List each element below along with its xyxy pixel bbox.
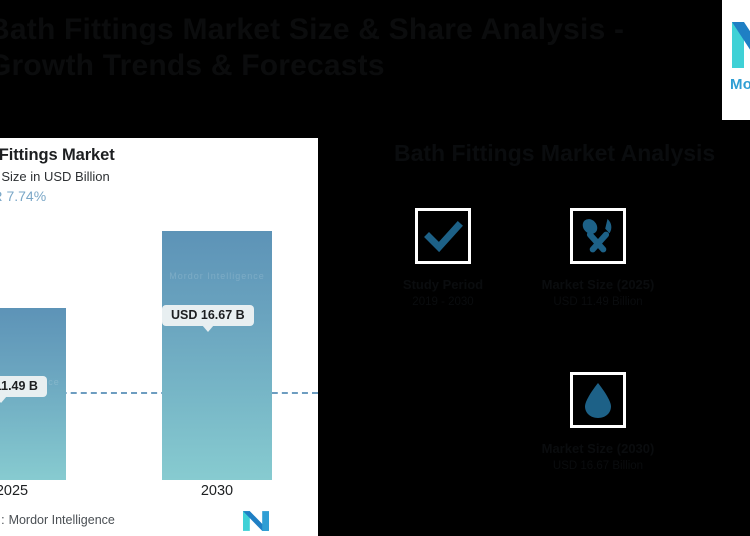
mordor-m-logomark-icon xyxy=(243,511,269,531)
feature-caption: Market Size (2030) xyxy=(513,440,683,457)
cagr-label: CAGR xyxy=(0,188,2,204)
chart-source: Source :Mordor Intelligence xyxy=(0,513,115,527)
feature-icon-frame xyxy=(415,208,471,264)
x-axis-label-2025: 2025 xyxy=(0,483,66,499)
feature-icon-frame xyxy=(570,372,626,428)
analysis-panel: Bath Fittings Market Analysis Study Peri… xyxy=(318,122,750,536)
page-title: Bath Fittings Market Size & Share Analys… xyxy=(0,12,688,84)
feature-study-period: Study Period 2019 - 2030 xyxy=(358,208,528,310)
cagr-value: 7.74% xyxy=(6,188,46,204)
source-name: Mordor Intelligence xyxy=(9,513,115,527)
feature-subtext: USD 11.49 Billion xyxy=(513,295,683,310)
bar-2030[interactable]: Mordor Intelligence xyxy=(162,231,272,480)
feature-market-size-2025: Market Size (2025) USD 11.49 Billion xyxy=(513,208,683,310)
brand-name: Mordor Intelligence xyxy=(730,76,750,93)
bar-watermark: Mordor Intelligence xyxy=(162,271,272,281)
feature-caption: Market Size (2025) xyxy=(513,276,683,293)
chart-title: Bath Fittings Market xyxy=(0,146,115,165)
feature-icon-frame xyxy=(570,208,626,264)
chart-cagr: CAGR7.74% xyxy=(0,188,46,204)
chart-subtitle: Market Size in USD Billion xyxy=(0,169,110,184)
chart-plot-area: Mordor Intelligence Mordor Intelligence … xyxy=(0,216,318,480)
feature-market-size-2030: Market Size (2030) USD 16.67 Billion xyxy=(513,372,683,474)
mordor-m-logomark-icon xyxy=(732,22,750,68)
cutlery-spoon-knife-icon xyxy=(578,216,618,256)
chart-card: Bath Fittings Market Market Size in USD … xyxy=(0,138,318,536)
page-header: Bath Fittings Market Size & Share Analys… xyxy=(0,0,750,122)
x-axis-label-2030: 2030 xyxy=(162,483,272,499)
feature-subtext: USD 16.67 Billion xyxy=(513,459,683,474)
checkmark-icon xyxy=(423,216,463,256)
feature-subtext: 2019 - 2030 xyxy=(358,295,528,310)
feature-caption: Study Period xyxy=(358,276,528,293)
panel-heading: Bath Fittings Market Analysis xyxy=(394,140,724,167)
water-droplet-icon xyxy=(578,380,618,420)
value-label-2025: USD 11.49 B xyxy=(0,376,47,397)
brand-logo[interactable]: Mordor Intelligence xyxy=(722,0,750,120)
source-label: Source : xyxy=(0,513,5,527)
value-label-2030: USD 16.67 B xyxy=(162,305,254,326)
